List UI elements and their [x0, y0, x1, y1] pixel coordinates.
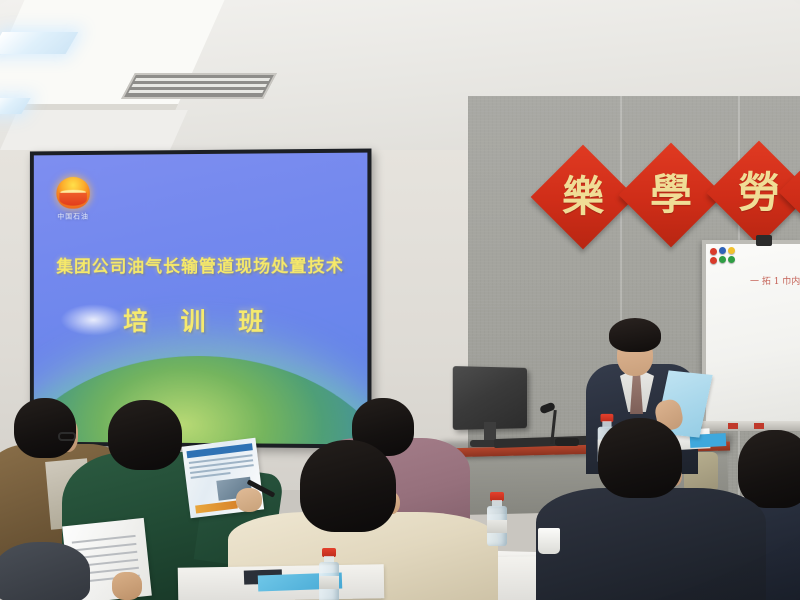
whiteboard-writing: 一 拓 1 巾内: [750, 276, 800, 288]
whiteboard[interactable]: 一 拓 1 巾内: [702, 240, 800, 425]
magnet-yellow[interactable]: [728, 247, 735, 254]
bottle-label: [319, 576, 339, 589]
attendee-green-sweater-hand: [236, 488, 262, 512]
attendee-cream-jacket-head: [300, 440, 396, 532]
magnet-green-2[interactable]: [728, 256, 735, 263]
paper-cup: [538, 528, 560, 554]
glasses-icon: [58, 432, 76, 441]
attendee-dark-suit-2-head: [738, 430, 800, 508]
lcd-monitor: [453, 366, 527, 430]
attendee-dark-suit-1-body: [536, 488, 766, 600]
water-bottle-right: [486, 492, 508, 546]
projected-slide: 中国石油 集团公司油气长输管道现场处置技术 培 训 班: [34, 153, 368, 445]
petrochina-sun-icon: [56, 177, 89, 209]
front-row-hand: [112, 572, 142, 600]
wall-plaque-4-character: [794, 155, 800, 229]
training-room-photo: 樂 學 勞 一 拓 1 巾内 中国石油 集团公司油气长输管道现场处置技: [0, 0, 800, 600]
microphone-base: [555, 438, 579, 446]
bottle-label: [487, 520, 507, 533]
attendee-front-row-head: [0, 542, 90, 600]
attendee-green-sweater-head: [108, 400, 182, 470]
whiteboard-clip: [756, 235, 772, 246]
slide-title-line1: 集团公司油气长输管道现场处置技术: [34, 252, 368, 278]
wall-plaque-1: 樂: [531, 145, 636, 250]
water-bottle-center: [318, 548, 340, 600]
petrochina-logo-caption: 中国石油: [55, 212, 90, 222]
magnet-red-2[interactable]: [710, 257, 717, 264]
attendee-dark-suit-1-head: [598, 418, 682, 498]
presenter-hair: [609, 318, 661, 352]
projection-screen: 中国石油 集团公司油气长输管道现场处置技术 培 训 班: [30, 149, 372, 449]
magnet-green-1[interactable]: [719, 256, 726, 263]
wall-plaque-1-character: 樂: [546, 160, 620, 234]
petrochina-logo: 中国石油: [55, 177, 90, 222]
ceiling-air-vent: [121, 73, 277, 99]
ceiling-light-panel-1: [0, 32, 78, 54]
globe-graphic: [34, 356, 368, 445]
wall-plaque-2-character: 學: [634, 158, 708, 232]
slide-title-line2: 培 训 班: [34, 302, 368, 338]
attendee-brown-jacket-head: [14, 398, 76, 458]
magnet-blue[interactable]: [719, 247, 726, 254]
wall-plaque-2: 學: [619, 143, 724, 248]
magnet-red-1[interactable]: [710, 248, 717, 255]
whiteboard-marker-tray: [702, 421, 800, 431]
